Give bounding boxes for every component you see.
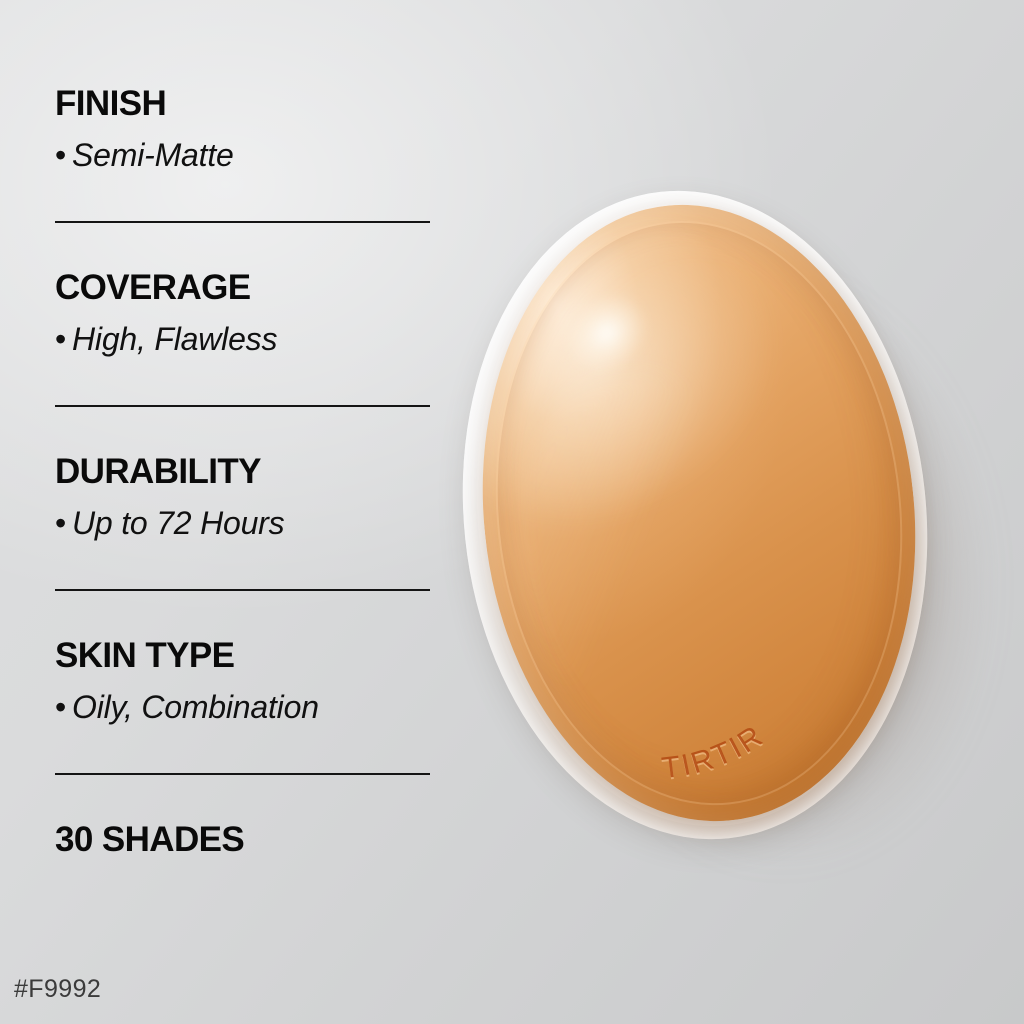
spec-block-skin-type: SKIN TYPE •Oily, Combination bbox=[55, 638, 435, 723]
spec-value-skin-type-text: Oily, Combination bbox=[72, 689, 319, 725]
spec-value-coverage-text: High, Flawless bbox=[72, 321, 277, 357]
spacer bbox=[55, 591, 435, 638]
spacer bbox=[55, 539, 435, 589]
spec-value-finish: •Semi-Matte bbox=[55, 139, 435, 171]
spec-title-coverage: COVERAGE bbox=[55, 270, 435, 305]
spec-value-durability: •Up to 72 Hours bbox=[55, 507, 435, 539]
spacer bbox=[55, 223, 435, 270]
spec-block-shades: 30 SHADES bbox=[55, 822, 435, 857]
bullet-icon: • bbox=[55, 689, 66, 725]
bullet-icon: • bbox=[55, 321, 66, 357]
shade-code-label: #F9992 bbox=[14, 975, 101, 1004]
spec-block-coverage: COVERAGE •High, Flawless bbox=[55, 270, 435, 355]
spec-title-durability: DURABILITY bbox=[55, 454, 435, 489]
bullet-icon: • bbox=[55, 137, 66, 173]
spec-list: FINISH •Semi-Matte COVERAGE •High, Flawl… bbox=[55, 86, 435, 857]
spec-title-finish: FINISH bbox=[55, 86, 435, 121]
spec-value-skin-type: •Oily, Combination bbox=[55, 691, 435, 723]
bullet-icon: • bbox=[55, 505, 66, 541]
spec-title-skin-type: SKIN TYPE bbox=[55, 638, 435, 673]
spec-value-finish-text: Semi-Matte bbox=[72, 137, 234, 173]
spacer bbox=[55, 723, 435, 773]
product-compact-image: TIRTIR TIRTIR bbox=[462, 186, 940, 846]
spacer bbox=[55, 775, 435, 822]
spec-value-coverage: •High, Flawless bbox=[55, 323, 435, 355]
spacer bbox=[55, 407, 435, 454]
spec-block-durability: DURABILITY •Up to 72 Hours bbox=[55, 454, 435, 539]
spec-block-finish: FINISH •Semi-Matte bbox=[55, 86, 435, 171]
spacer bbox=[55, 355, 435, 405]
shades-heading: 30 SHADES bbox=[55, 822, 435, 857]
product-spec-graphic: FINISH •Semi-Matte COVERAGE •High, Flawl… bbox=[0, 0, 1024, 1024]
spacer bbox=[55, 171, 435, 221]
spec-value-durability-text: Up to 72 Hours bbox=[72, 505, 284, 541]
